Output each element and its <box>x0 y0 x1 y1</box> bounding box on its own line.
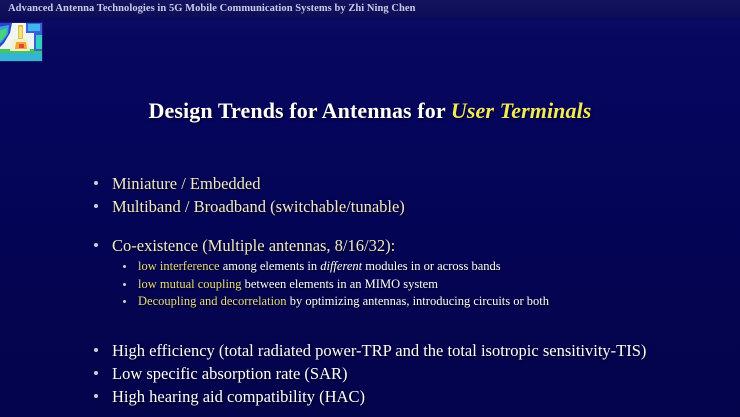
bullet-dot-icon <box>94 348 98 352</box>
sub-bullet-text-2: modules in or across bands <box>362 259 501 273</box>
slide-header-bar: Advanced Antenna Technologies in 5G Mobi… <box>0 0 740 20</box>
bullet-label: High efficiency (total radiated power-TR… <box>112 341 646 360</box>
sub-bullet-text: among elements in <box>220 259 321 273</box>
bullet-dot-icon <box>94 243 98 247</box>
bullet-dot-icon <box>123 265 126 268</box>
sub-bullet-list: low interference among elements in diffe… <box>118 258 710 311</box>
slide-title-accent: User Terminals <box>451 98 592 123</box>
bullet-label: Co-existence (Multiple antennas, 8/16/32… <box>112 236 395 255</box>
bullet-low-sar: Low specific absorption rate (SAR) <box>90 362 710 385</box>
sub-bullet-text: between elements in an MIMO system <box>241 277 437 291</box>
slide-body-bullets: Miniature / Embedded Multiband / Broadba… <box>90 172 710 408</box>
bullet-multiband-broadband: Multiband / Broadband (switchable/tunabl… <box>90 195 710 218</box>
presentation-slide: Advanced Antenna Technologies in 5G Mobi… <box>0 0 740 417</box>
sub-bullet-highlight: low mutual coupling <box>138 277 241 291</box>
bullet-dot-icon <box>94 204 98 208</box>
bullet-dot-icon <box>94 371 98 375</box>
bullet-label: Multiband / Broadband (switchable/tunabl… <box>112 197 405 216</box>
spacer <box>90 218 710 234</box>
field-plot-graphic <box>0 23 42 61</box>
bullet-label: Low specific absorption rate (SAR) <box>112 364 348 383</box>
sub-bullet-decoupling-decorrelation: Decoupling and decorrelation by optimizi… <box>118 293 710 311</box>
sub-bullet-emphasis: different <box>320 259 362 273</box>
antenna-field-plot-thumbnail-icon <box>0 22 43 62</box>
sub-bullet-low-mutual-coupling: low mutual coupling between elements in … <box>118 276 710 294</box>
slide-title: Design Trends for Antennas for User Term… <box>0 98 740 124</box>
presentation-running-title: Advanced Antenna Technologies in 5G Mobi… <box>8 3 416 14</box>
spacer <box>90 311 710 339</box>
sub-bullet-low-interference: low interference among elements in diffe… <box>118 258 710 276</box>
bullet-co-existence: Co-existence (Multiple antennas, 8/16/32… <box>90 234 710 257</box>
bullet-label: High hearing aid compatibility (HAC) <box>112 387 365 406</box>
bullet-high-hac: High hearing aid compatibility (HAC) <box>90 385 710 408</box>
sub-bullet-highlight: Decoupling and decorrelation <box>138 294 287 308</box>
sub-bullet-text: by optimizing antennas, introducing circ… <box>287 294 549 308</box>
bullet-high-efficiency: High efficiency (total radiated power-TR… <box>90 339 710 362</box>
bullet-label: Miniature / Embedded <box>112 174 260 193</box>
sub-bullet-highlight: low interference <box>138 259 220 273</box>
bullet-dot-icon <box>94 394 98 398</box>
bullet-dot-icon <box>123 283 126 286</box>
bullet-miniature-embedded: Miniature / Embedded <box>90 172 710 195</box>
bullet-dot-icon <box>94 181 98 185</box>
slide-title-main: Design Trends for Antennas for <box>149 98 451 123</box>
bullet-dot-icon <box>123 300 126 303</box>
